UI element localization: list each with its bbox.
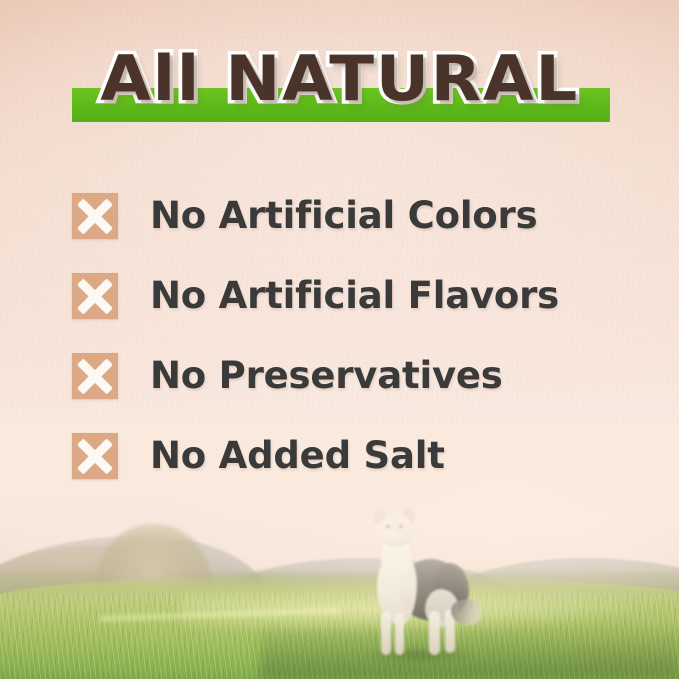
feature-item-no-artificial-colors: No Artificial Colors <box>72 176 632 256</box>
feature-label: No Added Salt <box>150 436 445 476</box>
feature-item-no-added-salt: No Added Salt <box>72 416 632 496</box>
product-feature-poster: All NATURAL No Artificial Colors No Arti… <box>0 0 679 679</box>
page-title: All NATURAL <box>0 48 679 110</box>
dog-front-leg-right <box>395 613 404 655</box>
dog-front-leg-left <box>381 611 391 655</box>
feature-list: No Artificial Colors No Artificial Flavo… <box>72 176 632 496</box>
x-mark-icon <box>72 193 118 239</box>
feature-label: No Artificial Colors <box>150 196 537 236</box>
x-mark-icon <box>72 273 118 319</box>
feature-label: No Preservatives <box>150 356 503 396</box>
x-mark-icon <box>72 433 118 479</box>
feature-item-no-artificial-flavors: No Artificial Flavors <box>72 256 632 336</box>
x-mark-icon <box>72 353 118 399</box>
dog-back-leg-left <box>429 611 440 655</box>
feature-item-no-preservatives: No Preservatives <box>72 336 632 416</box>
feature-label: No Artificial Flavors <box>150 276 559 316</box>
